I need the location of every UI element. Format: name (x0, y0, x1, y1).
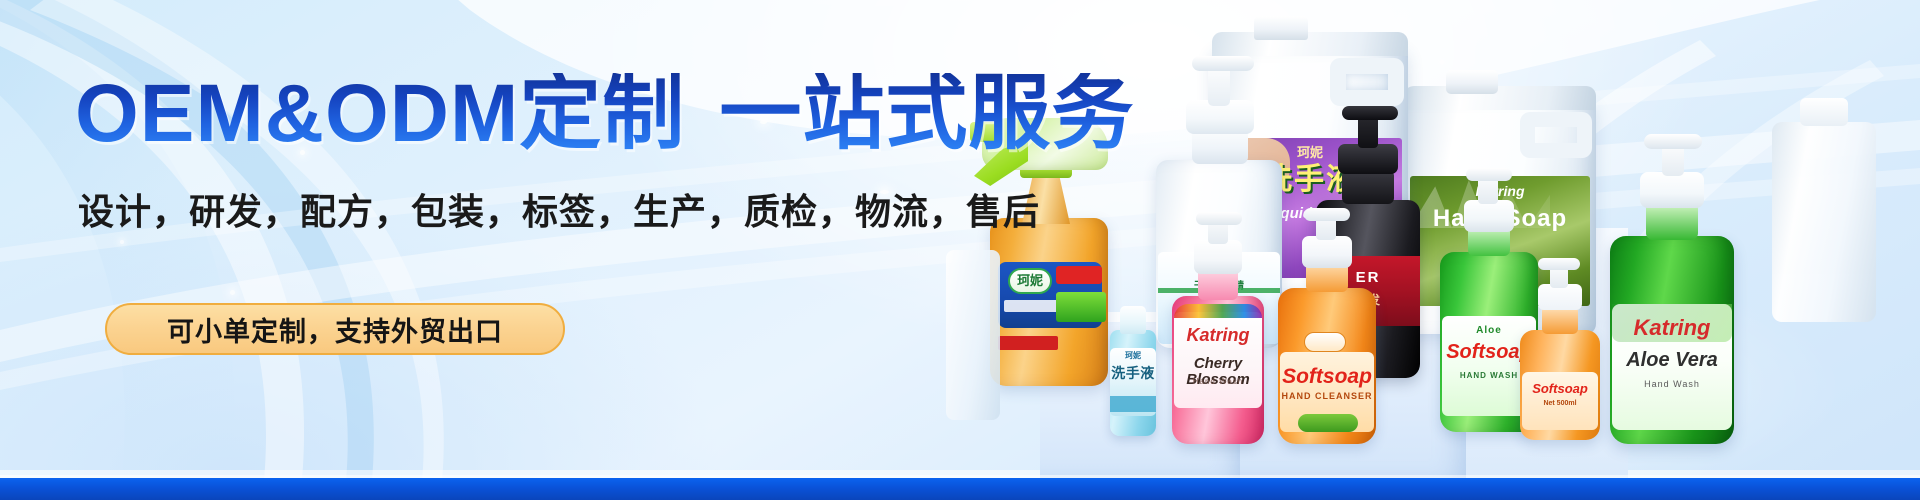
headline-sub: 一站式服务 (719, 68, 1134, 159)
headline-main: OEM&ODM定制 (75, 68, 685, 159)
sparkle-icon (230, 290, 235, 295)
orange-pump-flavor-pill (1298, 414, 1358, 432)
teal-sanitizer-cap (1120, 306, 1146, 334)
teal-sanitizer-brand: 珂妮 (1110, 352, 1156, 360)
orange-pump-spout (1304, 208, 1350, 221)
foam-pump-sub: Net 500ml (1522, 400, 1598, 407)
pink-pump-rainbow-arc (1174, 304, 1262, 318)
orange-pump-badge (1304, 332, 1346, 352)
foam-pump-spout (1538, 258, 1580, 270)
foam-pump-neck (1542, 306, 1578, 334)
orange-pump-variant: HAND CLEANSER (1280, 392, 1374, 401)
pink-pump-cap (1194, 240, 1242, 274)
spray-label-green-block (1056, 292, 1106, 322)
aloe-pump-spout (1644, 134, 1702, 149)
orange-pump-cap (1302, 236, 1352, 268)
black-pump-cap (1338, 144, 1398, 174)
teal-sanitizer-title: 洗手液 (1110, 366, 1156, 381)
status-badge: 可小单定制，支持外贸出口 (105, 303, 565, 355)
sparkle-icon (120, 240, 124, 244)
jerrycan-green-shoulder (1404, 86, 1596, 110)
pink-pump-spout (1196, 212, 1242, 225)
spray-bottle-brand: 珂妮 (1010, 270, 1050, 292)
far-bottle-body (1772, 122, 1876, 322)
white-pump-spout (1192, 56, 1254, 71)
jerrycan-green-handle (1520, 112, 1592, 158)
teal-sanitizer-graphic (1110, 396, 1156, 412)
far-bottle-cap (1800, 98, 1848, 126)
aloe-pump-cap (1640, 172, 1704, 208)
page-subtitle: 设计，研发，配方，包装，标签，生产，质检，物流，售后 (78, 183, 1040, 235)
green-pump-cap (1464, 200, 1514, 232)
foam-pump-brand: Softsoap (1522, 382, 1598, 396)
orange-pump-brand: Softsoap (1280, 366, 1374, 388)
foam-pump-label: Softsoap Net 500ml (1522, 372, 1598, 430)
pink-pump-sub: Hand Wash (1174, 378, 1262, 386)
pink-pump-brand: Katring (1174, 326, 1262, 345)
spray-label-brand-badge: 珂妮 (1008, 268, 1052, 294)
jerrycan-purple-cap (1254, 16, 1308, 40)
aloe-pump-brand: Katring (1612, 316, 1732, 339)
jerrycan-green-cap (1446, 70, 1498, 94)
status-badge-label: 可小单定制，支持外贸出口 (167, 310, 503, 349)
page-title: OEM&ODM定制一站式服务 (75, 73, 1134, 155)
aloe-pump-variant: Aloe Vera (1612, 350, 1732, 371)
jerrycan-green-brand: Katring (1410, 184, 1590, 199)
pink-pump-label: Katring Cherry Blossom Hand Wash (1174, 312, 1262, 408)
aloe-pump-sub: Hand Wash (1612, 380, 1732, 389)
aloe-pump-label: Katring Aloe Vera Hand Wash (1612, 304, 1732, 430)
black-pump-neck (1342, 170, 1394, 204)
jerrycan-purple-shoulder (1212, 32, 1408, 56)
spray-label-red-block (998, 336, 1058, 350)
jerrycan-purple-handle (1330, 58, 1404, 106)
black-pump-spout (1342, 106, 1398, 120)
spray-label-red-bar (1056, 266, 1102, 284)
bottom-bar (0, 478, 1920, 500)
edge-bottle (946, 250, 1000, 420)
green-pump-spout (1466, 168, 1512, 181)
promo-banner: Katring Hand Soap Net: 5kg 珂妮 洗手液 Liquid… (0, 0, 1920, 500)
